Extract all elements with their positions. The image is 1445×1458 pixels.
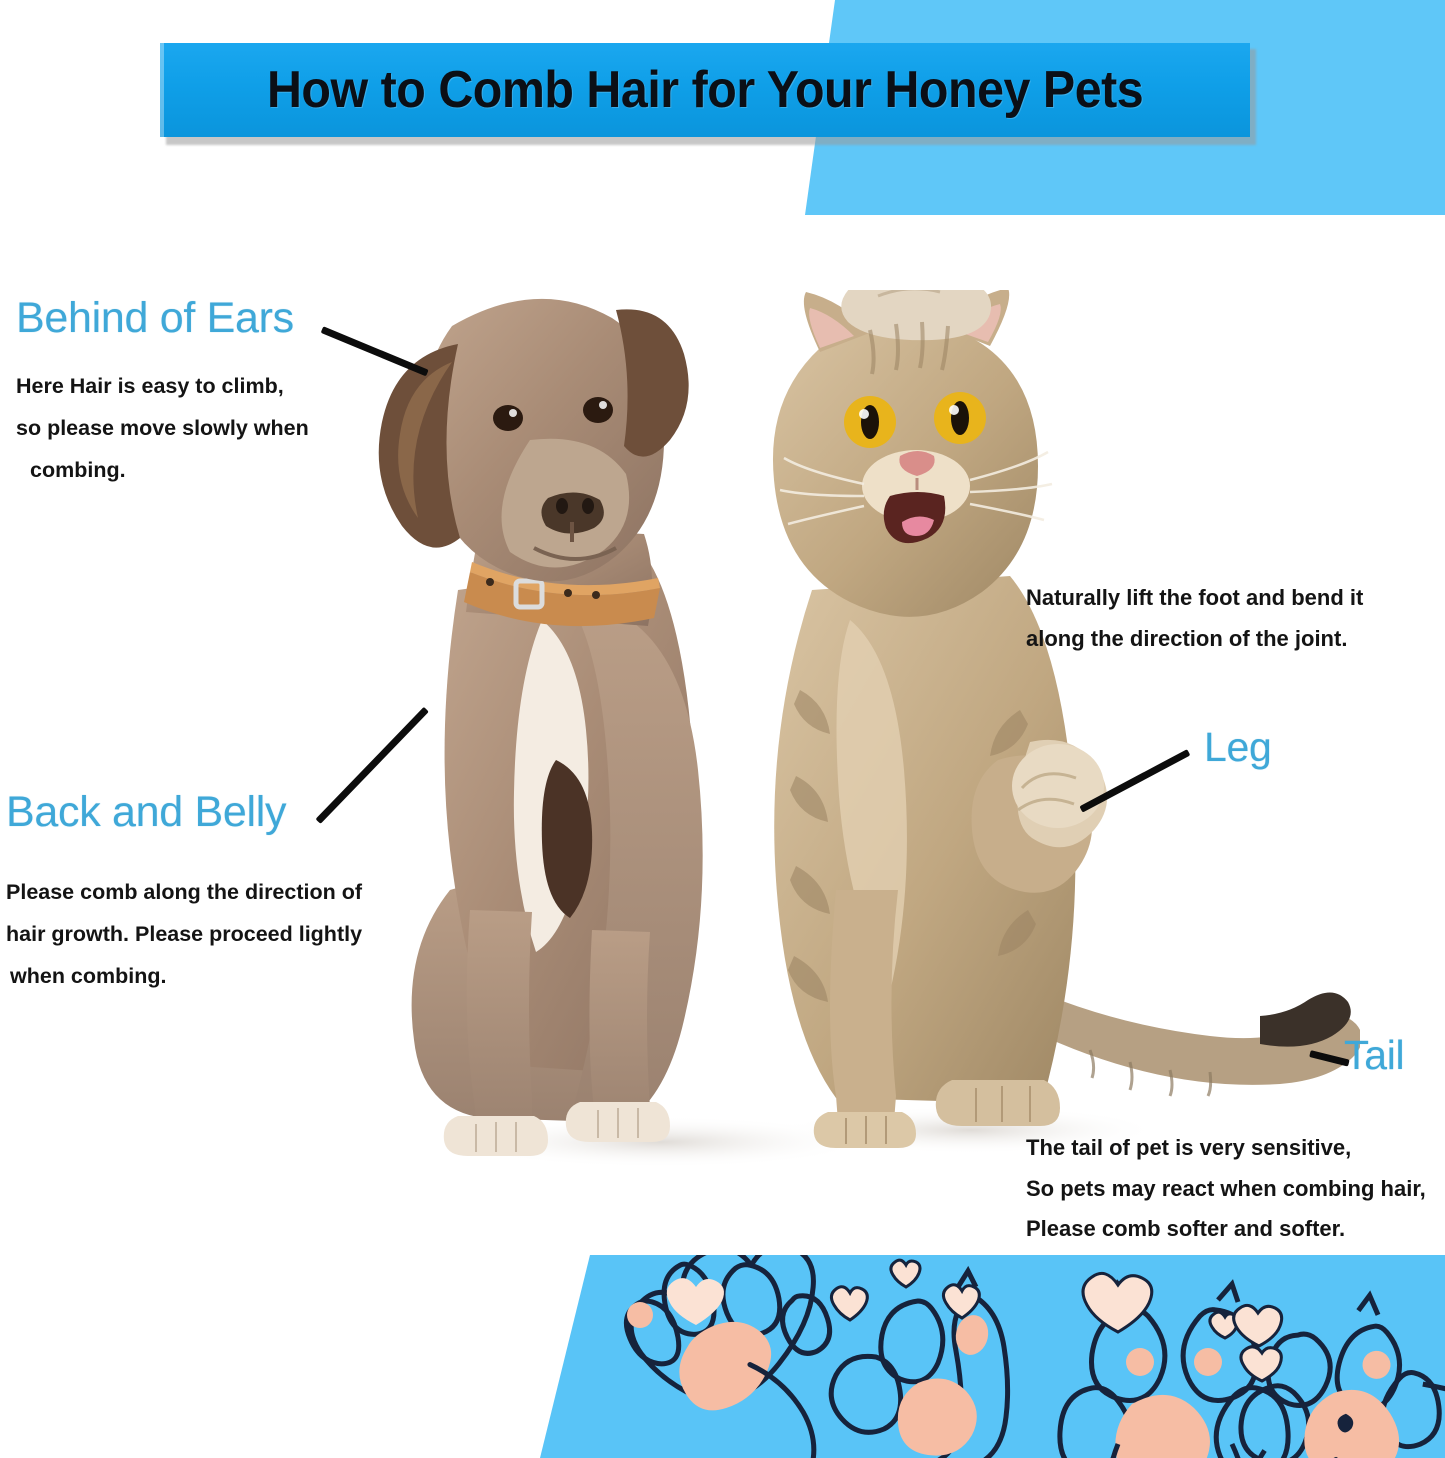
callout-tail: Tail	[1344, 1034, 1404, 1077]
back-belly-line-1: Please comb along the direction of	[6, 872, 362, 914]
callout-body-leg: Naturally lift the foot and bend it alon…	[1026, 578, 1363, 659]
callout-back-and-belly: Back and Belly	[6, 790, 286, 835]
heart-icon-5	[1083, 1273, 1152, 1332]
back-belly-line-3: when combing.	[6, 956, 362, 998]
callout-title-tail: Tail	[1344, 1034, 1404, 1077]
heart-icon-8	[1241, 1347, 1281, 1381]
callout-body-back-and-belly: Please comb along the direction of hair …	[6, 872, 362, 998]
behind-ears-line-3: combing.	[16, 450, 309, 492]
heart-icon-2	[831, 1287, 867, 1320]
behind-ears-line-1: Here Hair is easy to climb,	[16, 366, 309, 408]
callout-body-tail: The tail of pet is very sensitive, So pe…	[1026, 1128, 1426, 1250]
callout-leg: Leg	[1204, 726, 1272, 769]
back-belly-line-2: hair growth. Please proceed lightly	[6, 914, 362, 956]
leg-line-2: along the direction of the joint.	[1026, 619, 1363, 660]
callout-title-leg: Leg	[1204, 726, 1272, 769]
paw-print-icon-1	[612, 1255, 875, 1458]
heart-icon-4	[943, 1285, 979, 1318]
cat-figure	[773, 290, 1360, 1148]
heart-icon-3	[891, 1260, 920, 1287]
tail-line-1: The tail of pet is very sensitive,	[1026, 1128, 1426, 1169]
dog-figure	[379, 299, 703, 1156]
paw-doodles	[0, 1255, 1445, 1458]
leg-line-1: Naturally lift the foot and bend it	[1026, 578, 1363, 619]
behind-ears-line-2: so please move slowly when	[16, 408, 309, 450]
title-bar-left-edge	[160, 43, 164, 137]
tail-line-2: So pets may react when combing hair,	[1026, 1169, 1426, 1210]
infographic-page: How to Comb Hair for Your Honey Pets	[0, 0, 1445, 1458]
title-banner: How to Comb Hair for Your Honey Pets	[160, 43, 1250, 137]
page-title: How to Comb Hair for Your Honey Pets	[267, 60, 1143, 120]
callout-behind-of-ears: Behind of Ears	[16, 296, 294, 341]
bottom-paw-banner	[0, 1255, 1445, 1458]
callout-title-behind-of-ears: Behind of Ears	[16, 296, 294, 341]
tail-line-3: Please comb softer and softer.	[1026, 1209, 1426, 1250]
heart-icon-7	[1234, 1305, 1282, 1346]
callout-title-back-and-belly: Back and Belly	[6, 790, 286, 835]
callout-body-behind-of-ears: Here Hair is easy to climb, so please mo…	[16, 366, 309, 492]
